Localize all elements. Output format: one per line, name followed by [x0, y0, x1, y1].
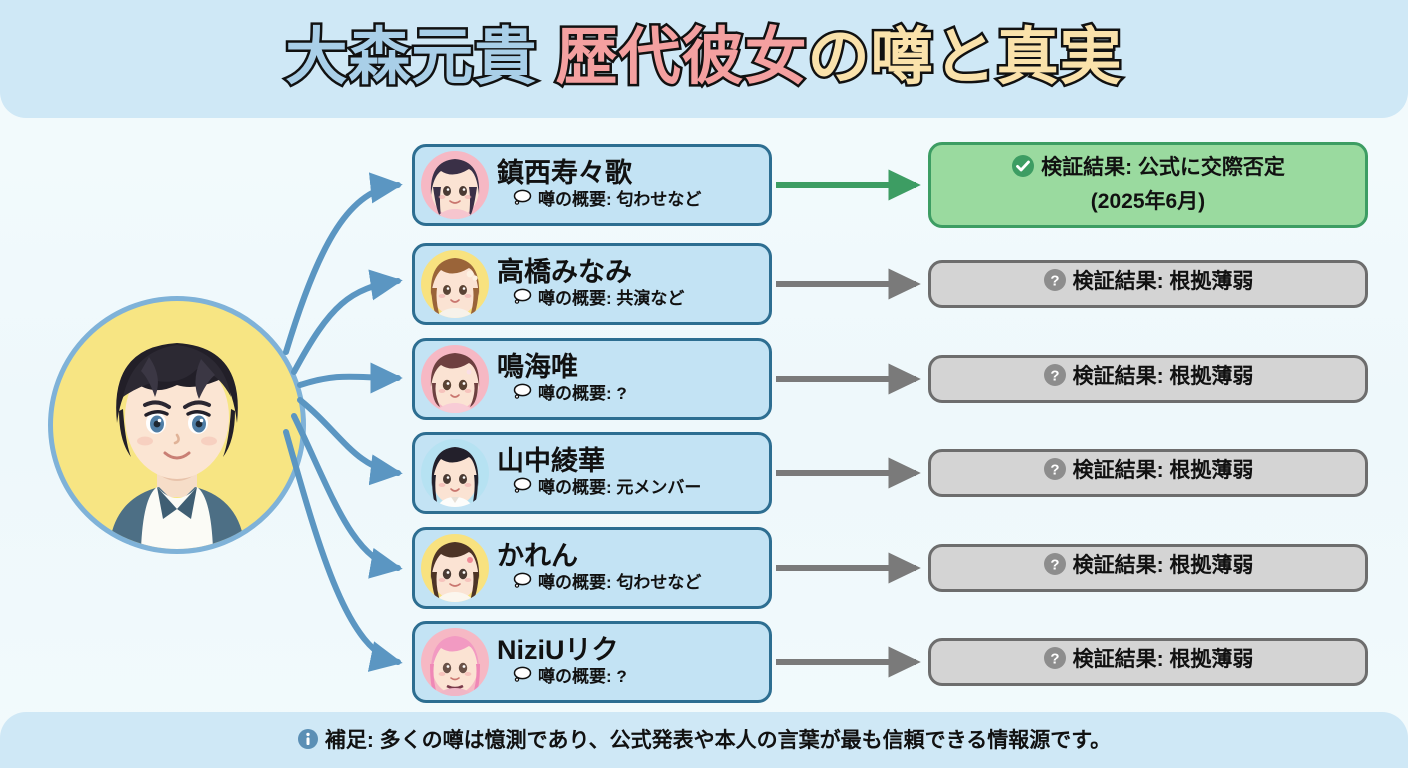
person-card[interactable]: NiziUリク 噂の概要: ?: [412, 621, 772, 703]
question-circle-icon: ?: [1043, 646, 1067, 679]
verification-result-box[interactable]: 検証結果: 公式に交際否定 (2025年6月): [928, 142, 1368, 228]
person-card-text: 高橋みなみ 噂の概要: 共演など: [489, 257, 761, 311]
person-avatar: [421, 250, 489, 318]
speech-bubble-icon: [513, 382, 533, 406]
question-circle-icon: ?: [1043, 363, 1067, 396]
person-card[interactable]: 鎮西寿々歌 噂の概要: 匂わせなど: [412, 144, 772, 226]
person-card-text: 山中綾華 噂の概要: 元メンバー: [489, 446, 761, 500]
result-line-1: ?検証結果: 根拠薄弱: [1043, 551, 1254, 585]
person-rumor-text: 噂の概要: ?: [538, 382, 627, 406]
person-rumor-text: 噂の概要: 匂わせなど: [538, 188, 701, 212]
infographic-page: 大森元貴 歴代彼女の噂と真実: [0, 0, 1408, 768]
svg-text:?: ?: [1050, 650, 1059, 667]
result-line-2: (2025年6月): [1011, 187, 1285, 217]
footer-note-text: 補足: 多くの噂は憶測であり、公式発表や本人の言葉が最も信頼できる情報源です。: [325, 729, 1111, 752]
person-rumor: 噂の概要: 元メンバー: [497, 476, 761, 500]
svg-text:?: ?: [1050, 367, 1059, 384]
person-card-text: かれん 噂の概要: 匂わせなど: [489, 541, 761, 595]
verification-result-box[interactable]: ?検証結果: 根拠薄弱: [928, 355, 1368, 403]
person-avatar: [421, 439, 489, 507]
person-name: 高橋みなみ: [497, 257, 761, 287]
person-rumor-text: 噂の概要: 共演など: [538, 287, 684, 311]
person-name: 鎮西寿々歌: [497, 158, 761, 188]
person-rumor: 噂の概要: ?: [497, 382, 761, 406]
person-name: かれん: [497, 541, 761, 571]
svg-text:?: ?: [1050, 556, 1059, 573]
person-name: NiziUリク: [497, 635, 761, 665]
speech-bubble-icon: [513, 571, 533, 595]
title-part-topic: 歴代彼女: [537, 23, 807, 92]
person-avatar: [421, 534, 489, 602]
person-rumor: 噂の概要: 共演など: [497, 287, 761, 311]
subject-portrait: [48, 296, 306, 554]
verification-result-box[interactable]: ?検証結果: 根拠薄弱: [928, 544, 1368, 592]
footer-note: 補足: 多くの噂は憶測であり、公式発表や本人の言葉が最も信頼できる情報源です。: [297, 724, 1111, 756]
person-card[interactable]: 鳴海唯 噂の概要: ?: [412, 338, 772, 420]
person-rumor-text: 噂の概要: 元メンバー: [538, 476, 701, 500]
result-line-1: ?検証結果: 根拠薄弱: [1043, 645, 1254, 679]
speech-bubble-icon: [513, 287, 533, 311]
speech-bubble-icon: [513, 188, 533, 212]
person-rumor: 噂の概要: ?: [497, 665, 761, 689]
person-name: 鳴海唯: [497, 352, 761, 382]
person-card-text: 鎮西寿々歌 噂の概要: 匂わせなど: [489, 158, 761, 212]
footer-band: 補足: 多くの噂は憶測であり、公式発表や本人の言葉が最も信頼できる情報源です。: [0, 712, 1408, 768]
result-line-1: ?検証結果: 根拠薄弱: [1043, 362, 1254, 396]
verification-result-box[interactable]: ?検証結果: 根拠薄弱: [928, 638, 1368, 686]
person-avatar: [421, 151, 489, 219]
person-card[interactable]: かれん 噂の概要: 匂わせなど: [412, 527, 772, 609]
person-card-text: 鳴海唯 噂の概要: ?: [489, 352, 761, 406]
person-card[interactable]: 山中綾華 噂の概要: 元メンバー: [412, 432, 772, 514]
person-avatar: [421, 345, 489, 413]
person-rumor-text: 噂の概要: ?: [538, 665, 627, 689]
speech-bubble-icon: [513, 476, 533, 500]
person-avatar: [421, 628, 489, 696]
speech-bubble-icon: [513, 665, 533, 689]
person-rumor-text: 噂の概要: 匂わせなど: [538, 571, 701, 595]
info-circle-icon: [297, 728, 319, 756]
result-line-1: ?検証結果: 根拠薄弱: [1043, 267, 1254, 301]
svg-text:?: ?: [1050, 272, 1059, 289]
result-line-1: 検証結果: 公式に交際否定: [1011, 153, 1285, 187]
check-circle-icon: [1011, 154, 1035, 187]
subject-avatar-illustration: [53, 301, 301, 549]
page-title: 大森元貴 歴代彼女の噂と真実: [0, 14, 1408, 102]
person-rumor: 噂の概要: 匂わせなど: [497, 188, 761, 212]
person-card[interactable]: 高橋みなみ 噂の概要: 共演など: [412, 243, 772, 325]
right-result-arrows: [776, 185, 916, 662]
person-rumor: 噂の概要: 匂わせなど: [497, 571, 761, 595]
question-circle-icon: ?: [1043, 268, 1067, 301]
title-part-tail: の噂と真実: [808, 23, 1123, 92]
title-part-subject: 大森元貴: [285, 23, 537, 92]
person-name: 山中綾華: [497, 446, 761, 476]
svg-text:?: ?: [1050, 461, 1059, 478]
question-circle-icon: ?: [1043, 457, 1067, 490]
result-line-1: ?検証結果: 根拠薄弱: [1043, 456, 1254, 490]
question-circle-icon: ?: [1043, 552, 1067, 585]
verification-result-box[interactable]: ?検証結果: 根拠薄弱: [928, 449, 1368, 497]
verification-result-box[interactable]: ?検証結果: 根拠薄弱: [928, 260, 1368, 308]
person-card-text: NiziUリク 噂の概要: ?: [489, 635, 761, 689]
